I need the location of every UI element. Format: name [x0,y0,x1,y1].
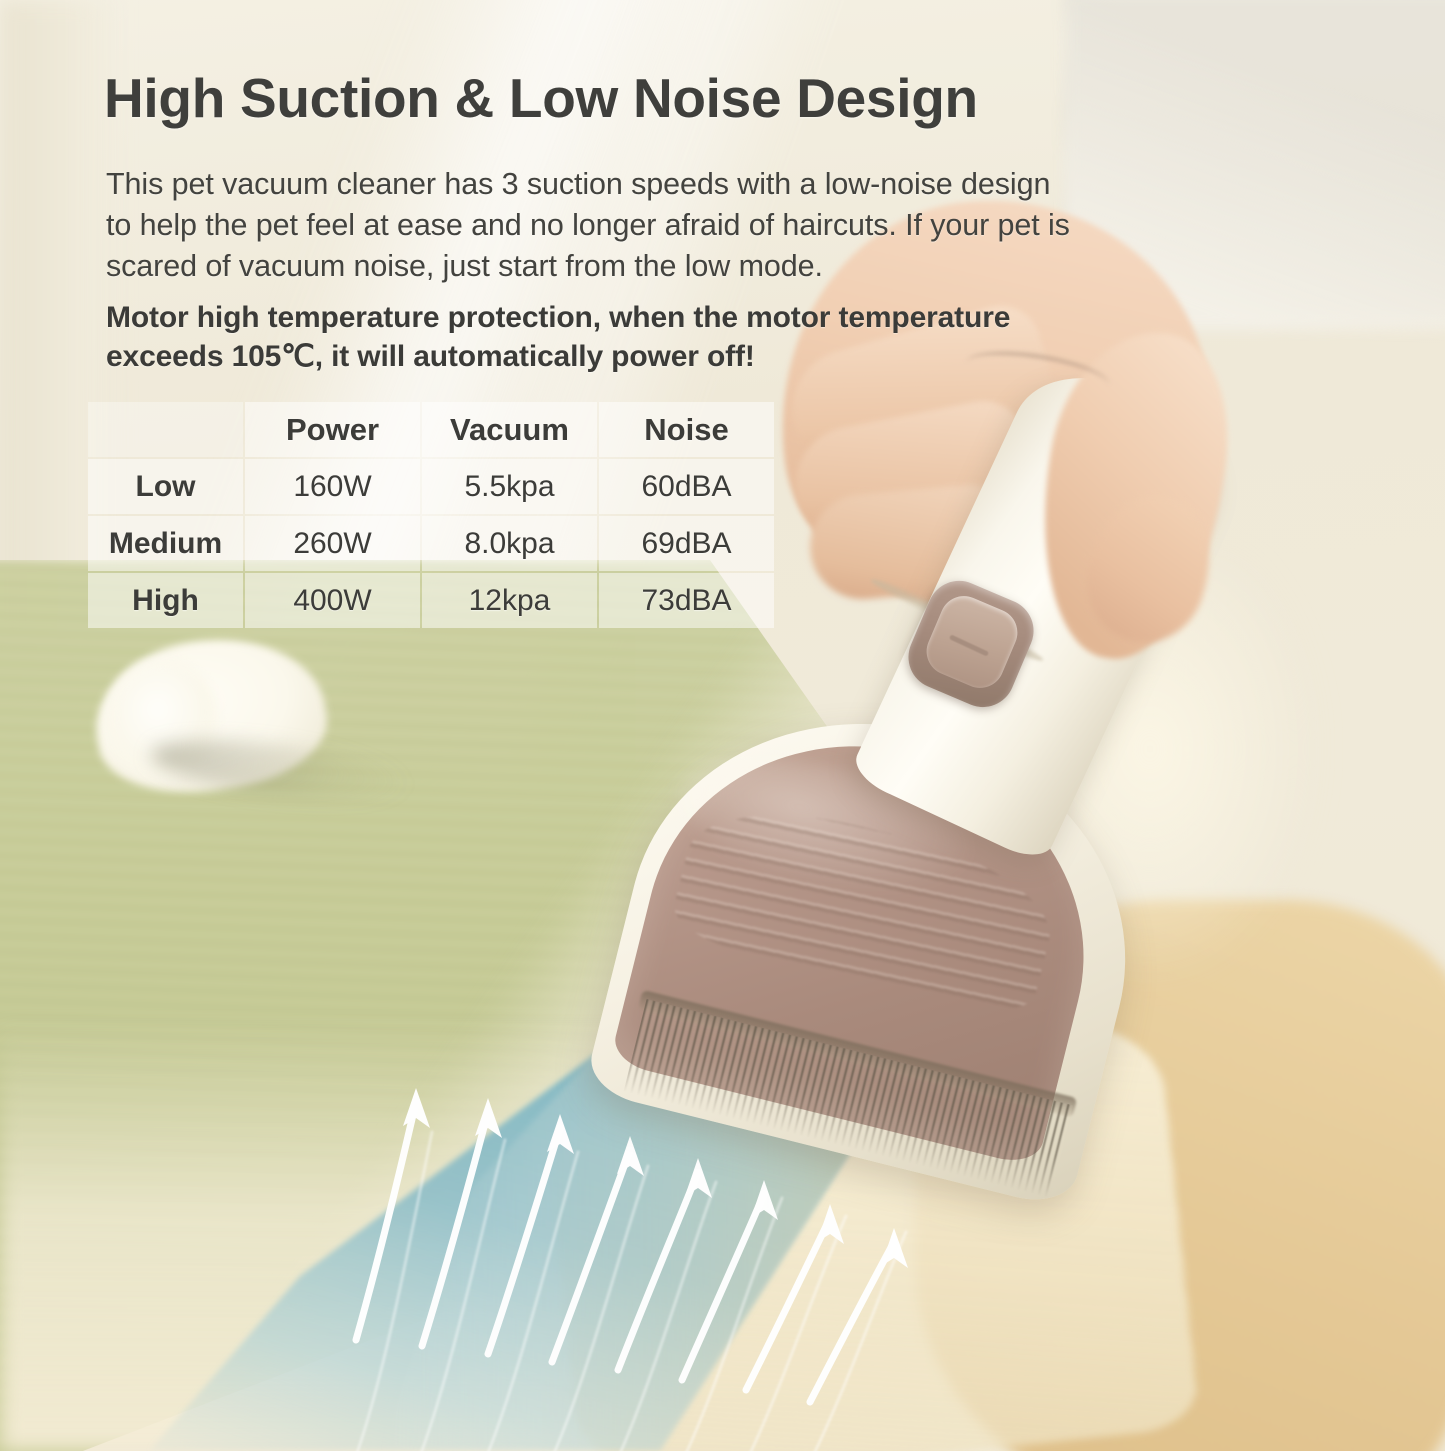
page-title: High Suction & Low Noise Design [104,66,978,130]
table-header-vacuum: Vacuum [422,402,597,457]
table-row-label: High [88,573,243,628]
table-cell-vacuum: 12kpa [422,573,597,628]
table-header-noise: Noise [599,402,774,457]
table-row: High 400W 12kpa 73dBA [88,573,774,628]
table-row-label: Low [88,459,243,514]
product-feature-image: High Suction & Low Noise Design This pet… [0,0,1445,1451]
table-cell-noise: 73dBA [599,573,774,628]
intro-paragraph-line: scared of vacuum noise, just start from … [106,246,1116,287]
intro-paragraph: This pet vacuum cleaner has 3 suction sp… [106,164,1116,287]
table-cell-power: 260W [245,516,420,571]
table-header-row: Power Vacuum Noise [88,402,774,457]
temperature-protection-line: Motor high temperature protection, when … [106,298,1096,337]
table-cell-power: 400W [245,573,420,628]
table-cell-vacuum: 8.0kpa [422,516,597,571]
table-row: Medium 260W 8.0kpa 69dBA [88,516,774,571]
table-header-blank [88,402,243,457]
intro-paragraph-line: This pet vacuum cleaner has 3 suction sp… [106,164,1116,205]
table-cell-power: 160W [245,459,420,514]
temperature-protection-note: Motor high temperature protection, when … [106,298,1096,376]
temperature-protection-line: exceeds 105℃, it will automatically powe… [106,337,1096,376]
specification-table: Power Vacuum Noise Low 160W 5.5kpa 60dBA… [86,400,776,630]
text-content-overlay: High Suction & Low Noise Design This pet… [0,0,1445,1451]
table-header-power: Power [245,402,420,457]
table-cell-noise: 69dBA [599,516,774,571]
table-cell-noise: 60dBA [599,459,774,514]
table-cell-vacuum: 5.5kpa [422,459,597,514]
table-row: Low 160W 5.5kpa 60dBA [88,459,774,514]
table-row-label: Medium [88,516,243,571]
intro-paragraph-line: to help the pet feel at ease and no long… [106,205,1116,246]
